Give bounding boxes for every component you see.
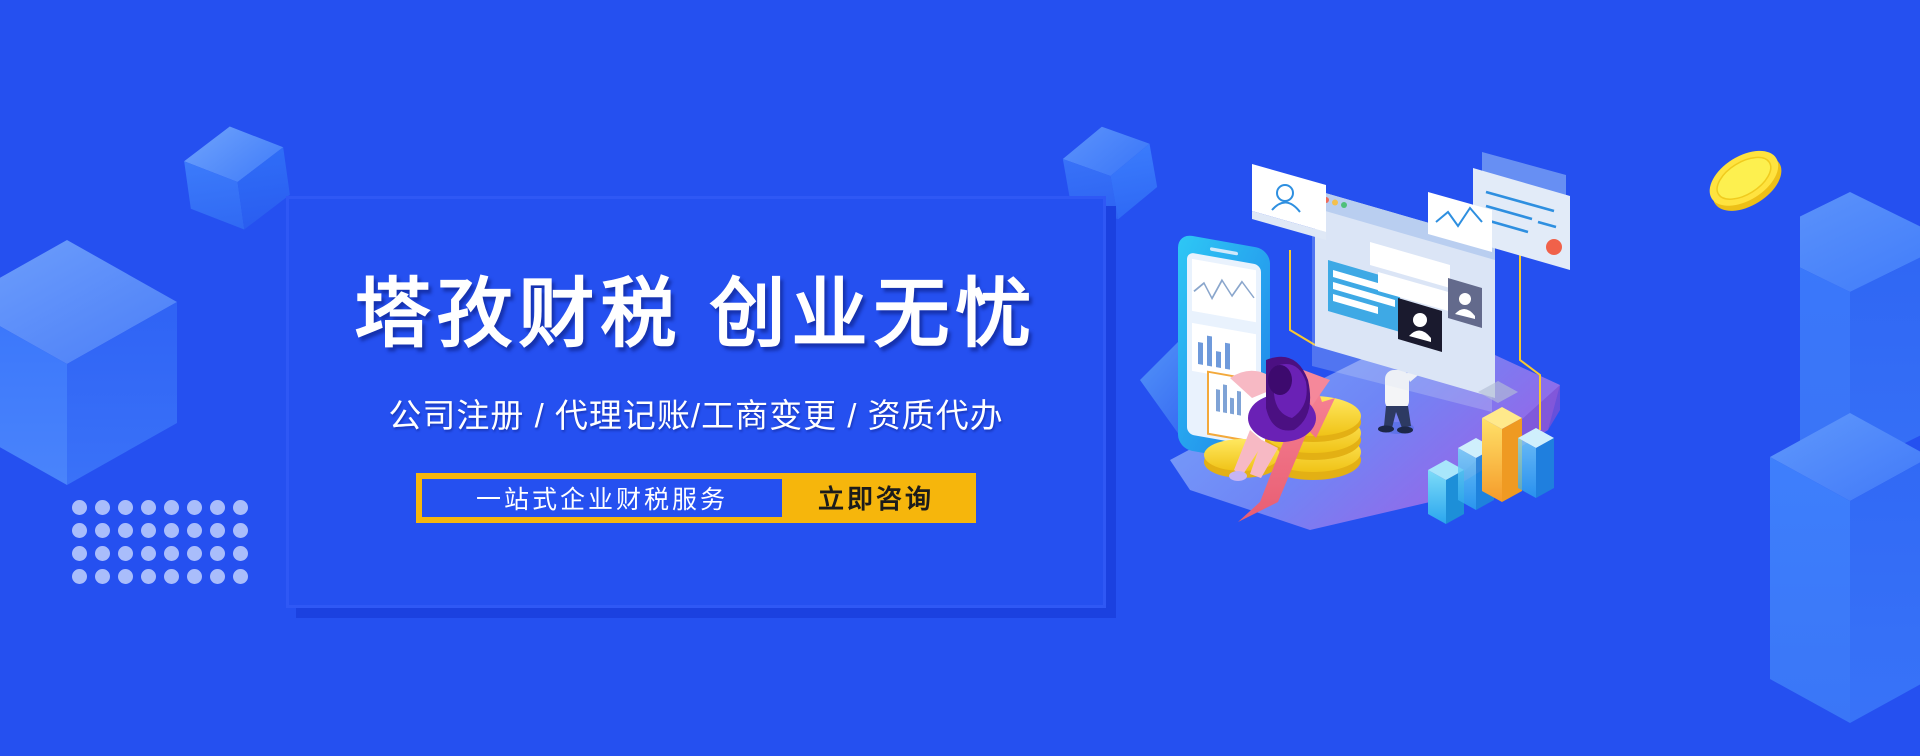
coin-large-icon <box>1700 140 1790 220</box>
cube-small-top-left-icon <box>182 118 292 238</box>
bar-4 <box>1518 428 1554 498</box>
grid-dot <box>95 546 110 561</box>
dot-grid-decoration <box>72 500 256 592</box>
services-subtitle: 公司注册 / 代理记账/工商变更 / 资质代办 <box>388 389 1003 437</box>
grid-dot <box>187 523 202 538</box>
grid-dot <box>164 500 179 515</box>
headline-block: 塔孜财税 创业无忧 公司注册 / 代理记账/工商变更 / 资质代办 一站式企业财… <box>286 196 1106 608</box>
grid-dot <box>141 500 156 515</box>
cta-consult-button[interactable]: 立即咨询 <box>782 479 970 517</box>
grid-dot <box>210 523 225 538</box>
grid-dot <box>233 569 248 584</box>
grid-dot <box>118 500 133 515</box>
promo-banner: 塔孜财税 创业无忧 公司注册 / 代理记账/工商变更 / 资质代办 一站式企业财… <box>0 0 1920 756</box>
grid-dot <box>141 523 156 538</box>
grid-dot <box>95 523 110 538</box>
grid-dot <box>233 546 248 561</box>
grid-dot <box>187 569 202 584</box>
grid-dot <box>210 546 225 561</box>
grid-dot <box>164 546 179 561</box>
grid-dot <box>72 546 87 561</box>
grid-dot <box>187 500 202 515</box>
prism-bottom-right-icon <box>1752 405 1920 735</box>
grid-dot <box>164 523 179 538</box>
grid-dot <box>233 500 248 515</box>
grid-dot <box>187 546 202 561</box>
grid-dot <box>210 569 225 584</box>
grid-dot <box>118 546 133 561</box>
grid-dot <box>118 569 133 584</box>
grid-dot <box>210 500 225 515</box>
grid-dot <box>95 500 110 515</box>
grid-dot <box>233 523 248 538</box>
prism-top-right-icon <box>1800 180 1920 480</box>
cta-primary-button[interactable]: 一站式企业财税服务 <box>422 479 782 517</box>
grid-dot <box>72 523 87 538</box>
page-title: 塔孜财税 创业无忧 <box>354 275 1037 355</box>
cta-bar[interactable]: 一站式企业财税服务 立即咨询 <box>416 473 976 523</box>
grid-dot <box>72 500 87 515</box>
cube-left-large-icon <box>0 230 182 490</box>
grid-dot <box>118 523 133 538</box>
grid-dot <box>164 569 179 584</box>
grid-dot <box>141 569 156 584</box>
bar-3-highlight <box>1482 407 1522 502</box>
grid-dot <box>141 546 156 561</box>
grid-dot <box>72 569 87 584</box>
id-card-popup <box>1252 164 1326 240</box>
isometric-business-illustration <box>1130 130 1580 570</box>
grid-dot <box>95 569 110 584</box>
